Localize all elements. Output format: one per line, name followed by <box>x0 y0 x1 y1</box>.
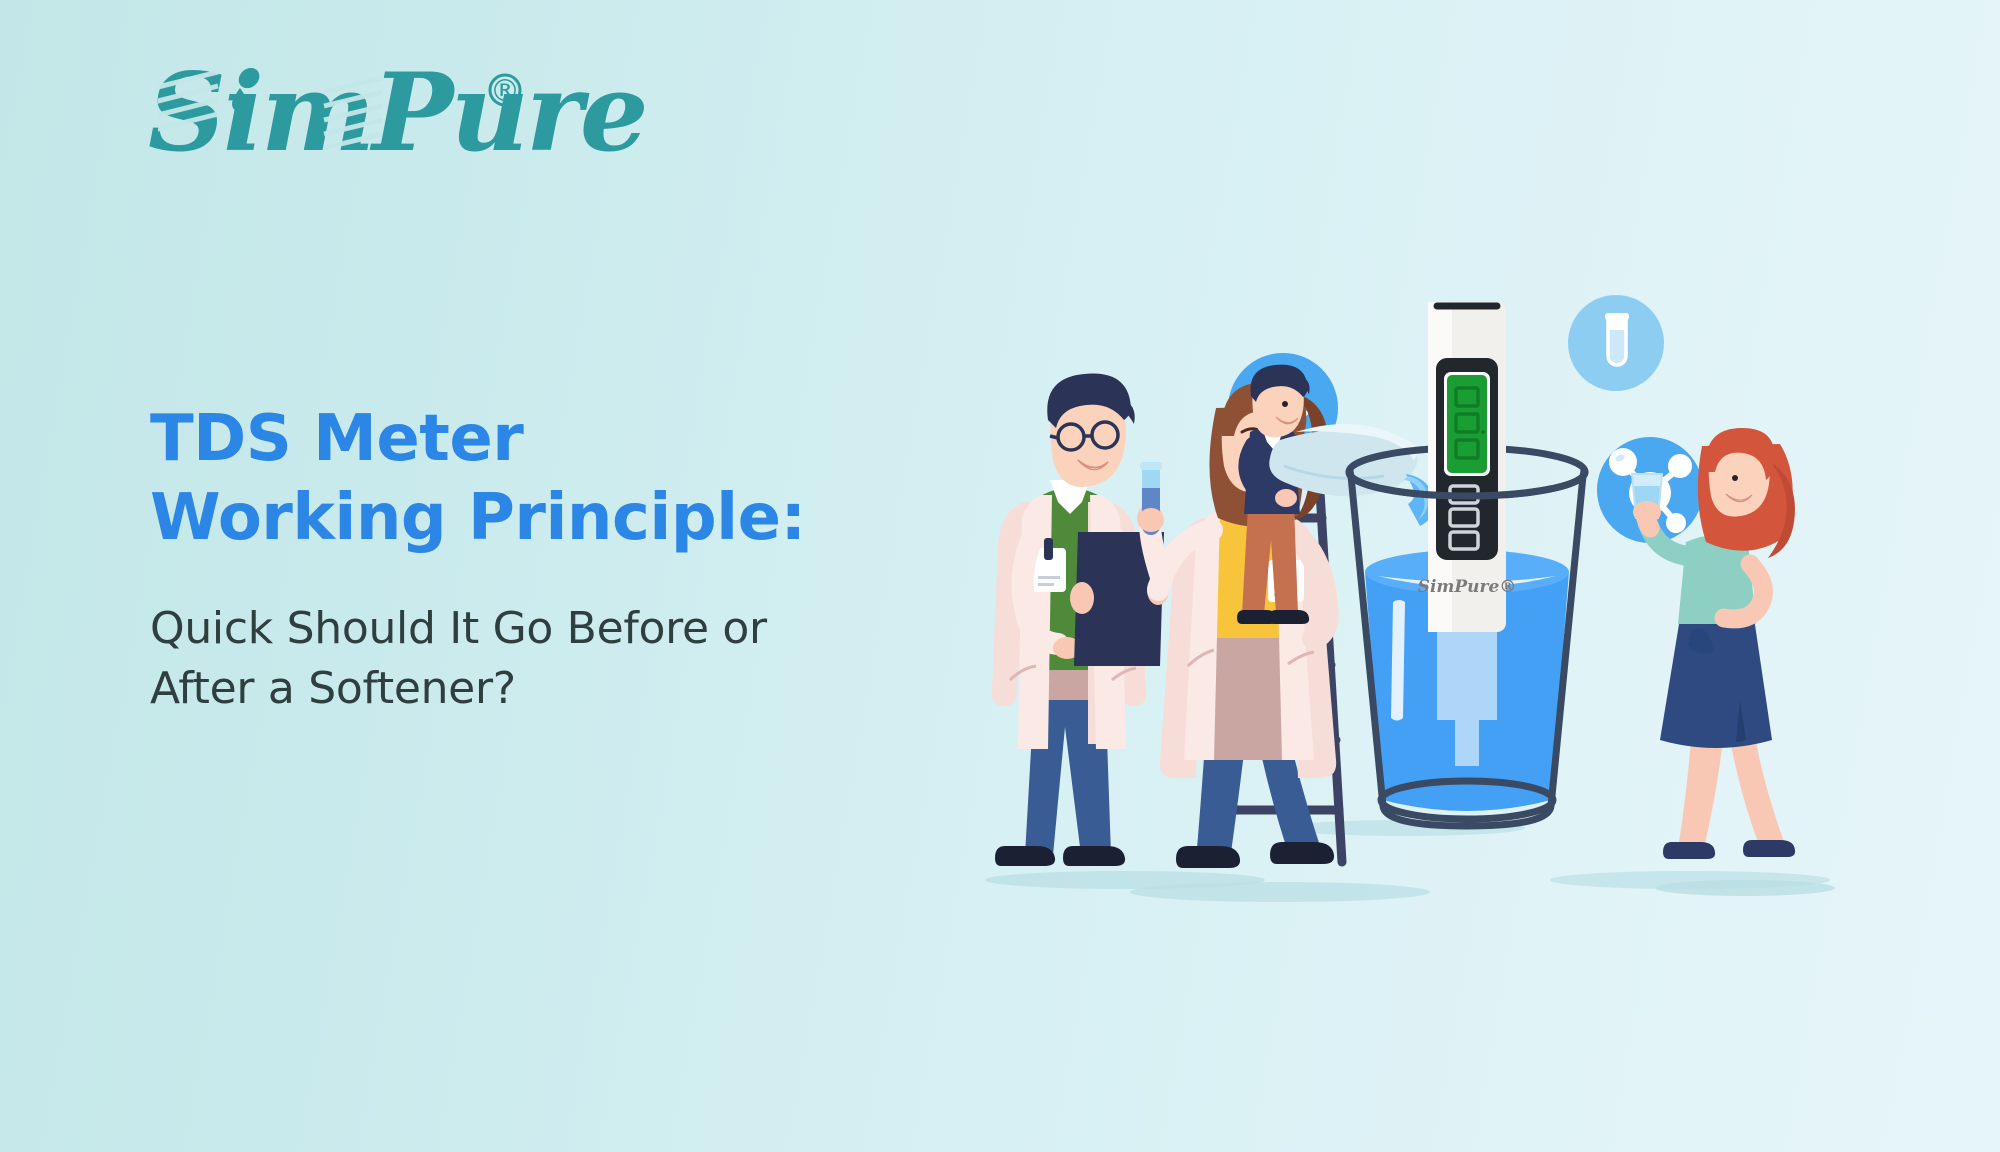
subhead-line-1: Quick Should It Go Before or <box>150 599 970 658</box>
page-subtitle: Quick Should It Go Before or After a Sof… <box>150 599 970 718</box>
headline-line-1: TDS Meter <box>150 400 970 479</box>
logo-wordmark: SimPure <box>148 50 646 176</box>
simpure-logo: SimPure ® <box>148 58 568 178</box>
test-tube-badge <box>1568 295 1664 391</box>
hero-illustration: SimPure® <box>950 280 1950 1000</box>
held-test-tube <box>1138 462 1164 535</box>
drinking-glass <box>1632 474 1662 523</box>
logo-registered-icon: ® <box>490 74 520 109</box>
hero-copy: TDS Meter Working Principle: Quick Shoul… <box>150 400 970 718</box>
subhead-line-2: After a Softener? <box>150 659 970 718</box>
woman-with-glass <box>1632 428 1795 859</box>
male-scientist <box>992 374 1169 866</box>
test-tube-icon <box>1605 313 1629 365</box>
page-title: TDS Meter Working Principle: <box>150 400 970 557</box>
pen-brand-label: SimPure® <box>1418 577 1517 597</box>
svg-text:®: ® <box>490 74 520 109</box>
headline-line-2: Working Principle: <box>150 479 970 558</box>
